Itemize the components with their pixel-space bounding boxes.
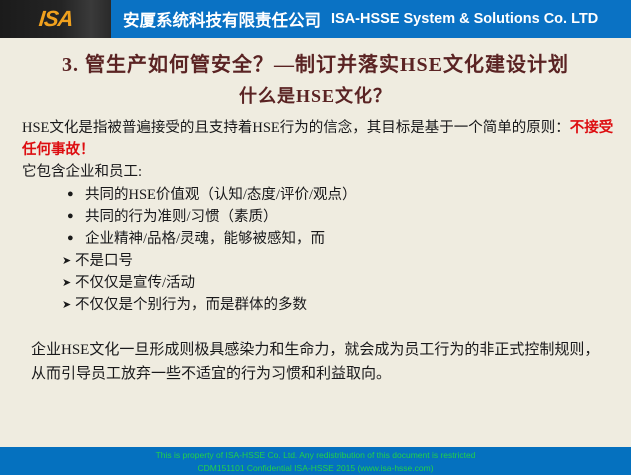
sub-bullet-list: 不是口号 不仅仅是宣传/活动 不仅仅是个别行为，而是群体的多数: [22, 250, 623, 316]
slide-title-main: 3. 管生产如何管安全？—制订并落实HSE文化建设计划: [0, 48, 631, 77]
sub-bullet-item: 不仅仅是个别行为，而是群体的多数: [62, 294, 623, 316]
company-name-cn: 安厦系统科技有限责任公司: [123, 7, 321, 31]
bullet-list: 共同的HSE价值观（认知/态度/评价/观点） 共同的行为准则/习惯（素质） 企业…: [22, 184, 623, 250]
slide-footer: This is property of ISA-HSSE Co. Ltd. An…: [0, 447, 631, 475]
footer-confidential-line: CDM151101 Confidential ISA-HSSE 2015 (ww…: [0, 462, 631, 475]
slide-title-sub: 什么是HSE文化？: [0, 82, 631, 108]
slide-body: 3. 管生产如何管安全？—制订并落实HSE文化建设计划 什么是HSE文化？ HS…: [0, 38, 631, 447]
bullet-item: 企业精神/品格/灵魂，能够被感知，而: [67, 228, 623, 250]
company-banner: 安厦系统科技有限责任公司 ISA-HSSE System & Solutions…: [111, 0, 631, 38]
sub-bullet-item: 不是口号: [62, 250, 623, 272]
slide-header: ISA 安厦系统科技有限责任公司 ISA-HSSE System & Solut…: [0, 0, 631, 38]
slide-content: HSE文化是指被普遍接受的且支持着HSE行为的信念，其目标是基于一个简单的原则：…: [0, 117, 631, 386]
bullet-item: 共同的HSE价值观（认知/态度/评价/观点）: [67, 184, 623, 206]
includes-paragraph: 它包含企业和员工:: [22, 161, 623, 183]
definition-text: HSE文化是指被普遍接受的且支持着HSE行为的信念，其目标是基于一个简单的原则：: [22, 120, 570, 136]
footer-copyright-line: This is property of ISA-HSSE Co. Ltd. An…: [0, 447, 631, 462]
sub-bullet-item: 不仅仅是宣传/活动: [62, 272, 623, 294]
isa-logo-text: ISA: [37, 6, 73, 32]
bullet-item: 共同的行为准则/习惯（素质）: [67, 206, 623, 228]
isa-logo: ISA: [0, 0, 111, 38]
definition-paragraph: HSE文化是指被普遍接受的且支持着HSE行为的信念，其目标是基于一个简单的原则：…: [22, 117, 623, 161]
company-name-en: ISA-HSSE System & Solutions Co. LTD: [331, 11, 598, 27]
closing-paragraph: 企业HSE文化一旦形成则极具感染力和生命力，就会成为员工行为的非正式控制规则，从…: [22, 338, 623, 386]
